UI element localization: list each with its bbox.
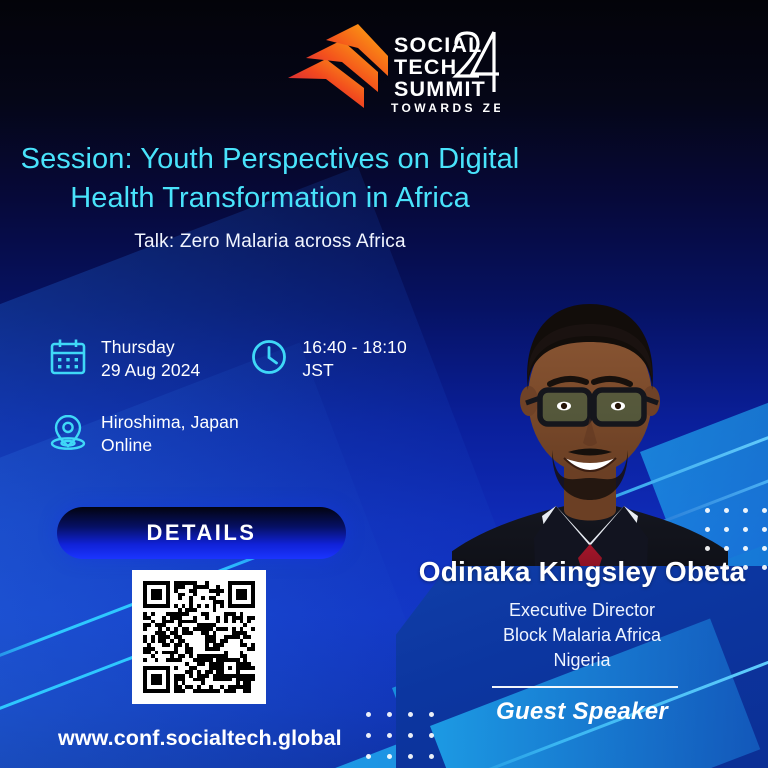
decorative-dot	[762, 546, 767, 551]
speaker-affiliation: Executive Director Block Malaria Africa …	[396, 598, 768, 672]
map-pin-icon	[48, 412, 88, 452]
qr-code[interactable]	[132, 570, 266, 704]
decorative-dot	[762, 508, 767, 513]
website-url[interactable]: www.conf.socialtech.global	[58, 726, 342, 751]
svg-text:TECH: TECH	[394, 55, 457, 79]
location-cell: Hiroshima, Japan Online	[48, 411, 239, 458]
svg-text:SOCIAL: SOCIAL	[394, 33, 482, 57]
date-time-row: Thursday 29 Aug 2024 16:40 - 18:10 JST	[48, 336, 407, 383]
event-date: Thursday 29 Aug 2024	[101, 336, 200, 383]
decorative-dot	[762, 527, 767, 532]
decorative-dot	[743, 546, 748, 551]
decorative-dot	[366, 733, 371, 738]
decorative-dot	[705, 546, 710, 551]
decorative-dot	[387, 712, 392, 717]
decorative-dot	[743, 527, 748, 532]
decorative-dot	[705, 527, 710, 532]
speaker-divider	[492, 686, 678, 688]
speaker-name: Odinaka Kingsley Obeta	[396, 556, 768, 588]
location-row: Hiroshima, Japan Online	[48, 411, 407, 458]
decorative-dot	[366, 712, 371, 717]
svg-text:TOWARDS ZERO: TOWARDS ZERO	[391, 101, 500, 114]
qr-code-matrix	[143, 581, 255, 693]
decorative-dot	[366, 754, 371, 759]
decorative-dot	[408, 754, 413, 759]
event-time: 16:40 - 18:10 JST	[302, 336, 406, 383]
decorative-dot	[705, 508, 710, 513]
decorative-dot	[429, 754, 434, 759]
decorative-dot	[387, 754, 392, 759]
event-location: Hiroshima, Japan Online	[101, 411, 239, 458]
svg-text:SUMMIT: SUMMIT	[394, 77, 486, 101]
clock-icon	[249, 337, 289, 377]
decorative-dot	[408, 733, 413, 738]
summit-logo: SOCIAL TECH SUMMIT TOWARDS ZERO	[286, 22, 500, 114]
decorative-dot	[429, 733, 434, 738]
date-cell: Thursday 29 Aug 2024	[48, 336, 200, 383]
event-poster: SOCIAL TECH SUMMIT TOWARDS ZERO Session:…	[0, 0, 768, 768]
details-button[interactable]: DETAILS	[57, 507, 346, 559]
time-cell: 16:40 - 18:10 JST	[249, 336, 406, 383]
event-details-block: Thursday 29 Aug 2024 16:40 - 18:10 JST	[48, 336, 407, 457]
decorative-dot	[724, 508, 729, 513]
speaker-role: Guest Speaker	[396, 698, 768, 726]
decorative-dot	[387, 733, 392, 738]
calendar-icon	[48, 337, 88, 377]
session-title: Session: Youth Perspectives on Digital H…	[0, 140, 540, 217]
decorative-dot	[724, 546, 729, 551]
decorative-dot	[743, 508, 748, 513]
decorative-dot	[724, 527, 729, 532]
